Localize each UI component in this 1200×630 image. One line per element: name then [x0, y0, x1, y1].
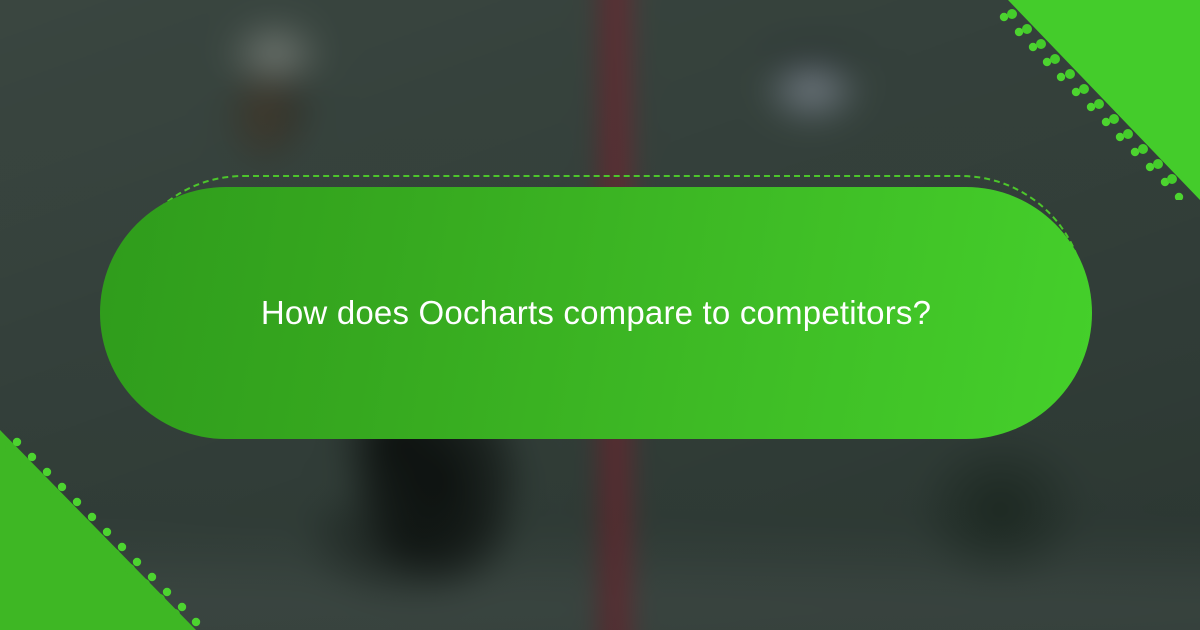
page-title: How does Oocharts compare to competitors…	[201, 292, 991, 333]
social-card-canvas: How does Oocharts compare to competitors…	[0, 0, 1200, 630]
headline-card: How does Oocharts compare to competitors…	[100, 175, 1100, 450]
headline-pill-body: How does Oocharts compare to competitors…	[100, 187, 1092, 439]
green-triangle-shape	[1008, 0, 1200, 200]
corner-decoration-bottom-left	[0, 430, 240, 630]
corner-decoration-top-right	[960, 0, 1200, 200]
